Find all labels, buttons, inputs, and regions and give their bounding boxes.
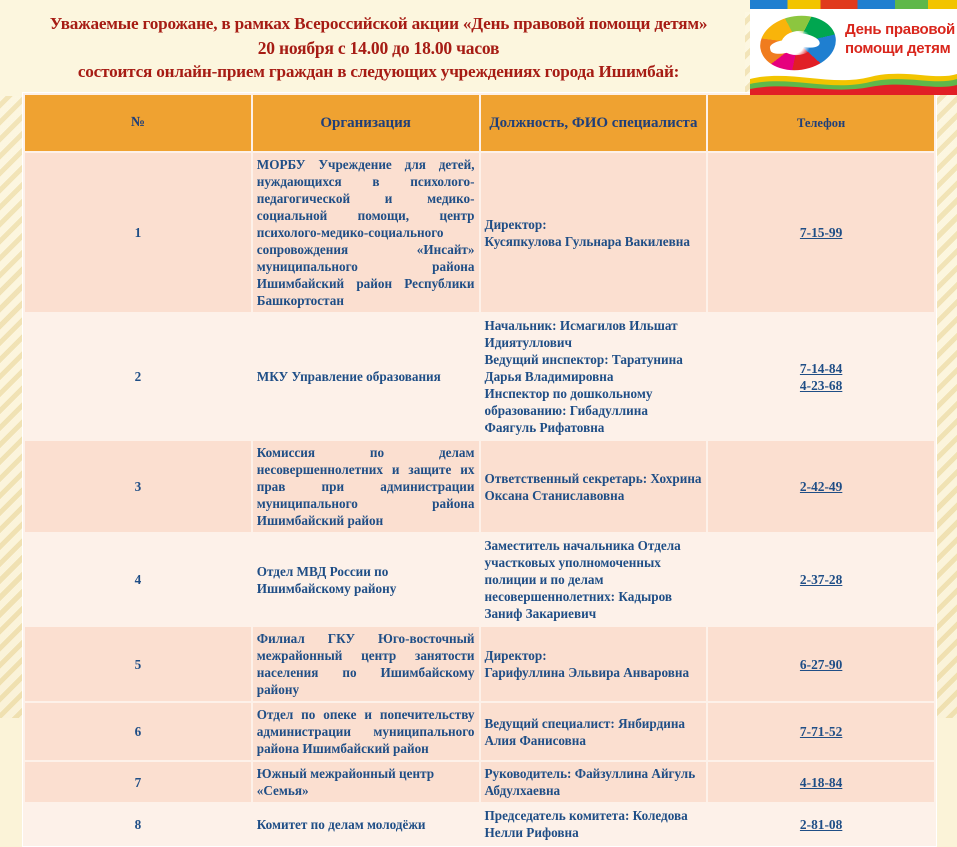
organizations-table-container: № Организация Должность, ФИО специалиста… xyxy=(22,92,937,847)
table-body: 1МОРБУ Учреждение для детей, нуждающихся… xyxy=(25,153,934,844)
phone-number-link[interactable]: 2-37-28 xyxy=(712,571,930,588)
announcement-title: Уважаемые горожане, в рамках Всероссийск… xyxy=(0,12,757,84)
cell-phone: 7-71-52 xyxy=(708,703,934,760)
cell-position: Ответственный секретарь: Хохрина Оксана … xyxy=(481,441,707,532)
cell-position: Руководитель: Файзуллина Айгуль Абдулхае… xyxy=(481,762,707,802)
cell-number: 8 xyxy=(25,804,251,844)
cell-organization: Отдел МВД России по Ишимбайскому району xyxy=(253,534,479,625)
phone-number-link[interactable]: 2-42-49 xyxy=(712,478,930,495)
table-header: № Организация Должность, ФИО специалиста… xyxy=(25,95,934,151)
position-line: Ведущий инспектор: Таратунина Дарья Влад… xyxy=(485,351,703,385)
logo-top-color-band xyxy=(750,0,957,9)
position-line: Гарифуллина Эльвира Анваровна xyxy=(485,664,703,681)
cell-number: 5 xyxy=(25,627,251,701)
phone-number-link[interactable]: 7-71-52 xyxy=(712,723,930,740)
position-line: Начальник: Исмагилов Ильшат Идиятуллович xyxy=(485,317,703,351)
logo-text-line-1: День правовой xyxy=(845,20,955,39)
cell-position: Директор:Гарифуллина Эльвира Анваровна xyxy=(481,627,707,701)
cell-phone: 6-27-90 xyxy=(708,627,934,701)
position-line: Директор: xyxy=(485,216,703,233)
phone-number-link[interactable]: 4-23-68 xyxy=(712,377,930,394)
table-row: 3Комиссия по делам несовершеннолетних и … xyxy=(25,441,934,532)
table-header-row: № Организация Должность, ФИО специалиста… xyxy=(25,95,934,151)
position-line: Ведущий специалист: Янбирдина Алия Фанис… xyxy=(485,715,703,749)
table-row: 6Отдел по опеке и попечительству админис… xyxy=(25,703,934,760)
table-row: 5Филиал ГКУ Юго-восточный межрайонный це… xyxy=(25,627,934,701)
phone-number-link[interactable]: 4-18-84 xyxy=(712,774,930,791)
cell-organization: Южный межрайонный центр «Семья» xyxy=(253,762,479,802)
campaign-logo: День правовой помощи детям xyxy=(750,0,957,95)
cell-phone: 7-14-844-23-68 xyxy=(708,314,934,439)
cell-position: Начальник: Исмагилов Ильшат Идиятуллович… xyxy=(481,314,707,439)
column-header-number: № xyxy=(25,95,251,151)
table-row: 2МКУ Управление образованияНачальник: Ис… xyxy=(25,314,934,439)
phone-number-link[interactable]: 6-27-90 xyxy=(712,656,930,673)
position-line: Заместитель начальника Отдела участковых… xyxy=(485,537,703,622)
phone-number-link[interactable]: 2-81-08 xyxy=(712,816,930,833)
column-header-phone: Телефон xyxy=(708,95,934,151)
cell-position: Заместитель начальника Отдела участковых… xyxy=(481,534,707,625)
logo-text-line-2: помощи детям xyxy=(845,39,955,58)
position-line: Руководитель: Файзуллина Айгуль Абдулхае… xyxy=(485,765,703,799)
column-header-organization: Организация xyxy=(253,95,479,151)
logo-wave-decoration xyxy=(750,65,957,95)
cell-number: 6 xyxy=(25,703,251,760)
cell-number: 7 xyxy=(25,762,251,802)
cell-organization: Филиал ГКУ Юго-восточный межрайонный цен… xyxy=(253,627,479,701)
cell-position: Директор:Кусяпкулова Гульнара Вакилевна xyxy=(481,153,707,312)
cell-position: Председатель комитета: Коледова Нелли Ри… xyxy=(481,804,707,844)
column-header-position: Должность, ФИО специалиста xyxy=(481,95,707,151)
title-line-2: 20 ноября с 14.00 до 18.00 часов xyxy=(0,36,757,60)
table-row: 1МОРБУ Учреждение для детей, нуждающихся… xyxy=(25,153,934,312)
phone-number-link[interactable]: 7-15-99 xyxy=(712,224,930,241)
cell-phone: 2-37-28 xyxy=(708,534,934,625)
cell-number: 4 xyxy=(25,534,251,625)
position-line: Ответственный секретарь: Хохрина Оксана … xyxy=(485,470,703,504)
cell-number: 1 xyxy=(25,153,251,312)
phone-number-link[interactable]: 7-14-84 xyxy=(712,360,930,377)
organizations-table: № Организация Должность, ФИО специалиста… xyxy=(23,93,936,846)
table-row: 4Отдел МВД России по Ишимбайскому району… xyxy=(25,534,934,625)
table-row: 8Комитет по делам молодёжиПредседатель к… xyxy=(25,804,934,844)
title-line-3: состоится онлайн-прием граждан в следующ… xyxy=(0,60,757,84)
position-line: Директор: xyxy=(485,647,703,664)
cell-number: 2 xyxy=(25,314,251,439)
cell-organization: МКУ Управление образования xyxy=(253,314,479,439)
cell-organization: МОРБУ Учреждение для детей, нуждающихся … xyxy=(253,153,479,312)
cell-phone: 2-81-08 xyxy=(708,804,934,844)
title-line-1: Уважаемые горожане, в рамках Всероссийск… xyxy=(0,12,757,36)
position-line: Кусяпкулова Гульнара Вакилевна xyxy=(485,233,703,250)
logo-text: День правовой помощи детям xyxy=(845,20,955,58)
cell-phone: 2-42-49 xyxy=(708,441,934,532)
cell-position: Ведущий специалист: Янбирдина Алия Фанис… xyxy=(481,703,707,760)
cell-phone: 7-15-99 xyxy=(708,153,934,312)
cell-organization: Отдел по опеке и попечительству админист… xyxy=(253,703,479,760)
cell-number: 3 xyxy=(25,441,251,532)
position-line: Председатель комитета: Коледова Нелли Ри… xyxy=(485,807,703,841)
cell-phone: 4-18-84 xyxy=(708,762,934,802)
cell-organization: Комитет по делам молодёжи xyxy=(253,804,479,844)
table-row: 7Южный межрайонный центр «Семья»Руководи… xyxy=(25,762,934,802)
cell-organization: Комиссия по делам несовершеннолетних и з… xyxy=(253,441,479,532)
position-line: Инспектор по дошкольному образованию: Ги… xyxy=(485,385,703,436)
